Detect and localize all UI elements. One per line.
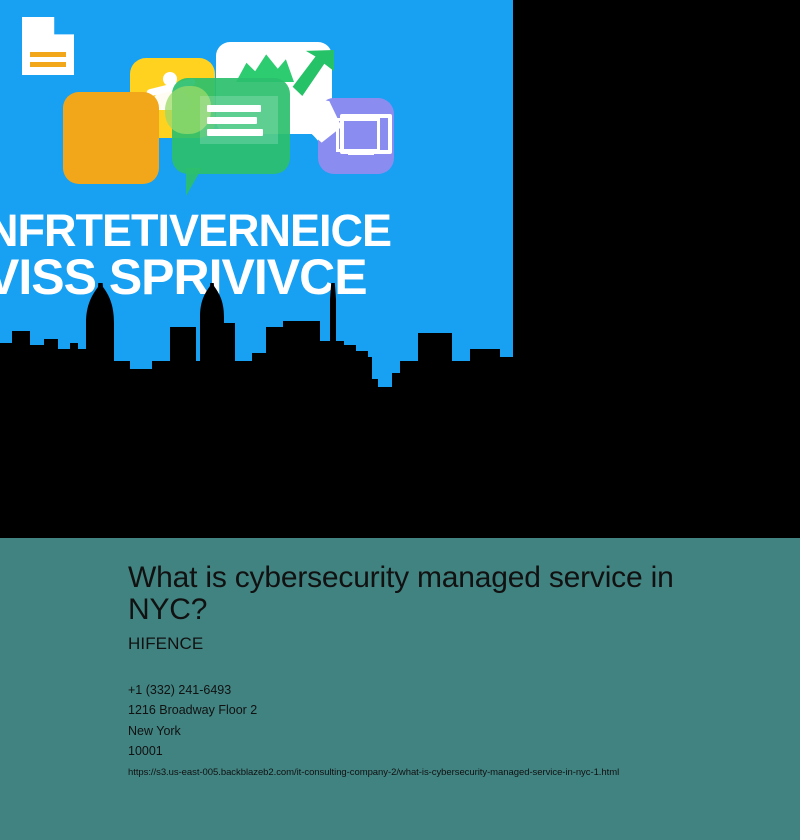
document-tile-icon: [63, 92, 159, 184]
page-title: What is cybersecurity managed service in…: [128, 562, 740, 626]
document-text-line-icon: [30, 52, 66, 57]
brand-name: HIFENCE: [128, 634, 740, 654]
list-row-icon: [207, 117, 257, 124]
icon-cluster: [0, 0, 513, 200]
image-gutter-band: [0, 513, 800, 538]
contact-phone: +1 (332) 241-6493: [128, 680, 740, 700]
contact-city: New York: [128, 721, 740, 741]
source-url[interactable]: https://s3.us-east-005.backblazeb2.com/i…: [128, 767, 740, 778]
contact-postal-code: 10001: [128, 741, 740, 761]
list-row-icon: [207, 105, 261, 112]
monitor-stand-icon: [348, 150, 374, 155]
info-panel: What is cybersecurity managed service in…: [0, 538, 800, 840]
hero-image: NFRTETIVERNEICE VISS SPRIVIVCE: [0, 0, 513, 513]
document-text-line-icon: [30, 62, 66, 67]
contact-details: +1 (332) 241-6493 1216 Broadway Floor 2 …: [128, 680, 740, 761]
list-bubble-tail-icon: [186, 168, 202, 196]
nyc-skyline-silhouette: [0, 283, 513, 513]
monitor-frame-icon: [340, 114, 392, 154]
contact-street: 1216 Broadway Floor 2: [128, 700, 740, 720]
list-row-icon: [207, 129, 263, 136]
